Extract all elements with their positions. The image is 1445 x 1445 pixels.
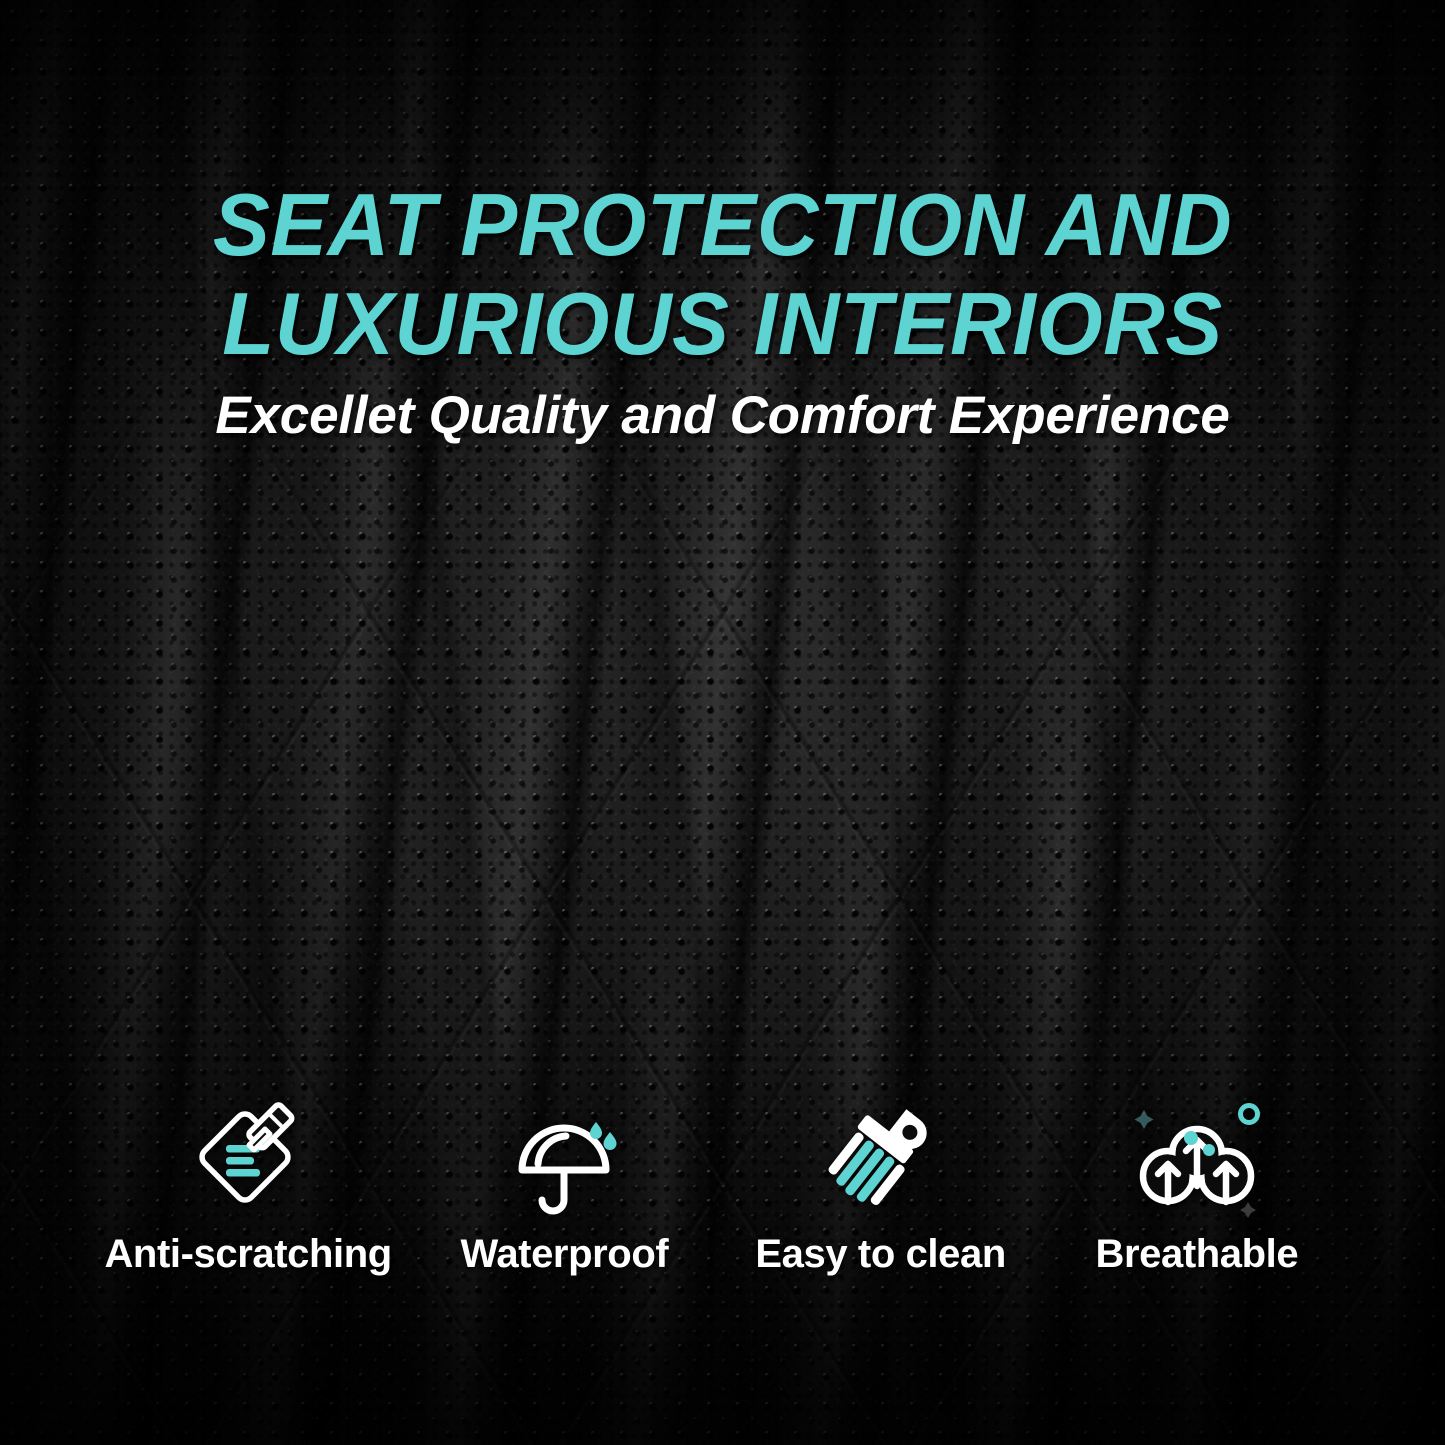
diamond-pencil-icon <box>186 1098 310 1220</box>
product-feature-banner: SEAT PROTECTION AND LUXURIOUS INTERIORS … <box>0 0 1445 1445</box>
feature-label-anti-scratching: Anti-scratching <box>104 1232 391 1277</box>
feature-item-breathable: Breathable <box>1039 1098 1355 1277</box>
umbrella-droplets-icon <box>502 1098 626 1220</box>
feature-label-waterproof: Waterproof <box>460 1232 668 1277</box>
cloud-arrows-icon <box>1130 1098 1264 1220</box>
feature-label-easy-to-clean: Easy to clean <box>755 1232 1005 1277</box>
subtitle: Excellet Quality and Comfort Experience <box>0 385 1445 446</box>
feature-item-waterproof: Waterproof <box>406 1098 722 1277</box>
headline: SEAT PROTECTION AND LUXURIOUS INTERIORS <box>22 176 1424 373</box>
feature-item-easy-to-clean: Easy to clean <box>723 1098 1039 1277</box>
feature-label-breathable: Breathable <box>1096 1232 1299 1277</box>
brush-icon <box>819 1098 943 1220</box>
feature-item-anti-scratching: Anti-scratching <box>90 1098 406 1277</box>
feature-list: Anti-scratching Waterproo <box>90 1098 1355 1277</box>
